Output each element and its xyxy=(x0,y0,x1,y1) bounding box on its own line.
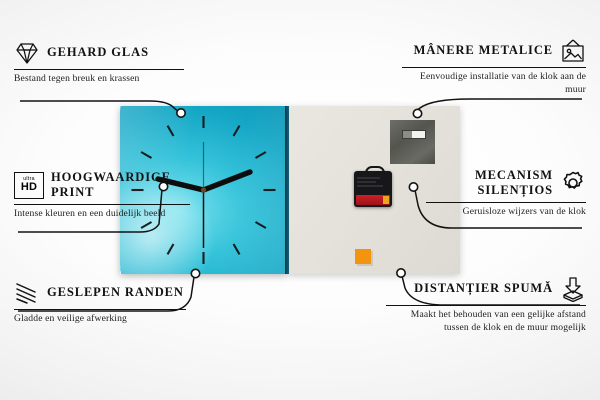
hanger-slot xyxy=(402,130,426,139)
feature-description: Maakt het behouden van een gelijke afsta… xyxy=(386,309,586,334)
feature-description: Eenvoudige installatie van de klok aan d… xyxy=(402,71,586,96)
feature-divider xyxy=(402,67,586,68)
metal-hanger xyxy=(390,120,435,164)
gear-icon xyxy=(560,170,586,196)
ultra-hd-icon: ultra HD xyxy=(14,172,44,199)
feature-manere-metalice: MÂNERE METALICE Eenvoudige installatie v… xyxy=(402,38,586,97)
feature-divider xyxy=(426,202,586,203)
feature-hoogwaardige-print: ultra HD HOOGWAARDIGE PRINT Intense kleu… xyxy=(14,170,190,221)
battery-positive-terminal xyxy=(383,196,389,204)
mechanism-ridge xyxy=(357,185,383,187)
foam-spacer-pad xyxy=(355,249,371,264)
feature-gehard-glas: GEHARD GLAS Bestand tegen breuk en krass… xyxy=(14,40,184,86)
feature-title: MÂNERE METALICE xyxy=(414,43,553,58)
feature-mecanism-silentios: MECANISM SILENȚIOS Geruisloze wijzers va… xyxy=(426,168,586,219)
feature-title: DISTANȚIER SPUMĂ xyxy=(414,281,553,296)
picture-frame-icon xyxy=(560,38,586,64)
diagonal-lines-icon xyxy=(14,280,40,306)
down-arrow-onto-surface-icon xyxy=(560,276,586,302)
feature-title: GEHARD GLAS xyxy=(47,45,149,60)
feature-description: Intense kleuren en een duidelijk beeld xyxy=(14,208,190,221)
feature-description: Geruisloze wijzers van de klok xyxy=(426,206,586,219)
feature-title: GESLEPEN RANDEN xyxy=(47,285,184,300)
battery xyxy=(356,195,390,205)
feature-divider xyxy=(386,305,586,306)
clock-mechanism xyxy=(354,171,392,207)
mechanism-hook xyxy=(365,166,385,176)
feature-distantier-spuma: DISTANȚIER SPUMĂ Maakt het behouden van … xyxy=(386,276,586,335)
feature-description: Gladde en veilige afwerking xyxy=(14,313,186,326)
mechanism-ridge xyxy=(357,177,380,179)
feature-divider xyxy=(14,309,186,310)
feature-divider xyxy=(14,204,190,205)
diamond-icon xyxy=(14,40,40,66)
ultra-hd-icon-bottom: HD xyxy=(21,182,37,193)
feature-title: HOOGWAARDIGE PRINT xyxy=(51,170,190,201)
infographic-canvas: GEHARD GLAS Bestand tegen breuk en krass… xyxy=(0,0,600,400)
feature-divider xyxy=(14,69,184,70)
feature-description: Bestand tegen breuk en krassen xyxy=(14,73,184,86)
feature-geslepen-randen: GESLEPEN RANDEN Gladde en veilige afwerk… xyxy=(14,280,186,326)
mechanism-ridge xyxy=(357,181,376,183)
feature-title: MECANISM SILENȚIOS xyxy=(426,168,553,199)
